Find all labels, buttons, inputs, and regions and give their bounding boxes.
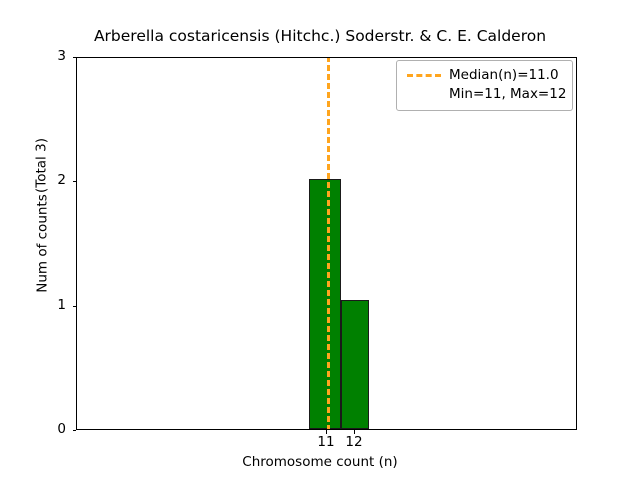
legend-entry-median: Median(n)=11.0 xyxy=(397,66,572,85)
legend: Median(n)=11.0 Min=11, Max=12 xyxy=(396,60,573,111)
bar-11 xyxy=(309,179,341,429)
chart-title: Arberella costaricensis (Hitchc.) Soders… xyxy=(0,27,640,46)
y-tick-label-0: 0 xyxy=(26,423,66,437)
plot-inner xyxy=(77,58,576,429)
legend-entry-minmax: Min=11, Max=12 xyxy=(397,85,572,104)
bar-12 xyxy=(341,300,369,429)
x-tick-label-12: 12 xyxy=(334,435,374,450)
plot-area xyxy=(76,57,577,430)
median-line xyxy=(327,58,330,429)
chart-figure: Arberella costaricensis (Hitchc.) Soders… xyxy=(0,0,640,480)
legend-dashed-line-icon xyxy=(407,74,441,77)
y-tick-label-3: 3 xyxy=(26,50,66,64)
y-tick-mark-0 xyxy=(73,430,77,431)
legend-label-median: Median(n)=11.0 xyxy=(449,67,559,84)
y-axis-sublabel: (Total 3) xyxy=(35,81,50,251)
x-axis-label: Chromosome count (n) xyxy=(0,455,640,470)
legend-label-minmax: Min=11, Max=12 xyxy=(449,86,566,103)
